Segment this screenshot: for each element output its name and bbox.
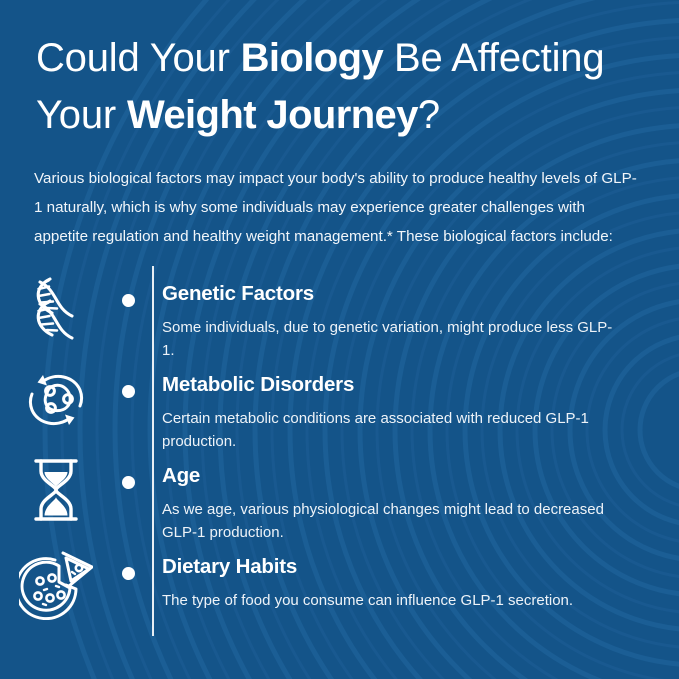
timeline-marker <box>112 546 144 580</box>
hourglass-icon <box>0 455 112 523</box>
headline-emphasis-weight-journey: Weight Journey <box>127 93 418 137</box>
timeline-dot <box>122 476 135 489</box>
headline-line-1: Could Your Biology Be Affecting <box>36 36 604 80</box>
factor-description: As we age, various physiological changes… <box>162 498 614 545</box>
factor-description: Certain metabolic conditions are associa… <box>162 407 614 454</box>
factor-title: Genetic Factors <box>162 282 649 307</box>
intro-paragraph: Various biological factors may impact yo… <box>0 144 679 252</box>
list-item: Age As we age, various physiological cha… <box>0 455 679 545</box>
timeline-dot <box>122 385 135 398</box>
list-item: Genetic Factors Some individuals, due to… <box>0 273 679 363</box>
page-title: Could Your Biology Be Affecting Your Wei… <box>0 0 679 144</box>
headline-line-2: Your Weight Journey? <box>36 93 440 137</box>
timeline-marker <box>112 455 144 489</box>
headline-question-mark: ? <box>418 93 440 137</box>
timeline-dot <box>122 567 135 580</box>
timeline-marker <box>112 364 144 398</box>
factor-text-block: Metabolic Disorders Certain metabolic co… <box>144 364 649 453</box>
factor-title: Age <box>162 464 649 489</box>
factor-text-block: Age As we age, various physiological cha… <box>144 455 649 544</box>
factor-description: Some individuals, due to genetic variati… <box>162 316 614 363</box>
dna-helix-icon <box>0 273 112 343</box>
infographic-card: Could Your Biology Be Affecting Your Wei… <box>0 0 679 679</box>
list-item: Dietary Habits The type of food you cons… <box>0 546 679 636</box>
timeline-dot <box>122 294 135 307</box>
list-item: Metabolic Disorders Certain metabolic co… <box>0 364 679 454</box>
factor-title: Metabolic Disorders <box>162 373 649 398</box>
metabolism-molecule-icon <box>0 364 112 434</box>
factor-text-block: Dietary Habits The type of food you cons… <box>144 546 649 612</box>
factor-title: Dietary Habits <box>162 555 649 580</box>
content-wrapper: Could Your Biology Be Affecting Your Wei… <box>0 0 679 636</box>
factor-description: The type of food you consume can influen… <box>162 589 614 612</box>
pizza-slice-icon <box>0 546 112 620</box>
biological-factors-timeline-list: Genetic Factors Some individuals, due to… <box>0 251 679 636</box>
headline-emphasis-biology: Biology <box>241 36 383 80</box>
headline-text-regular-1: Could Your <box>36 36 241 80</box>
headline-text-regular-2: Be Affecting <box>383 36 604 80</box>
factor-text-block: Genetic Factors Some individuals, due to… <box>144 273 649 362</box>
timeline-marker <box>112 273 144 307</box>
headline-text-regular-3: Your <box>36 93 127 137</box>
